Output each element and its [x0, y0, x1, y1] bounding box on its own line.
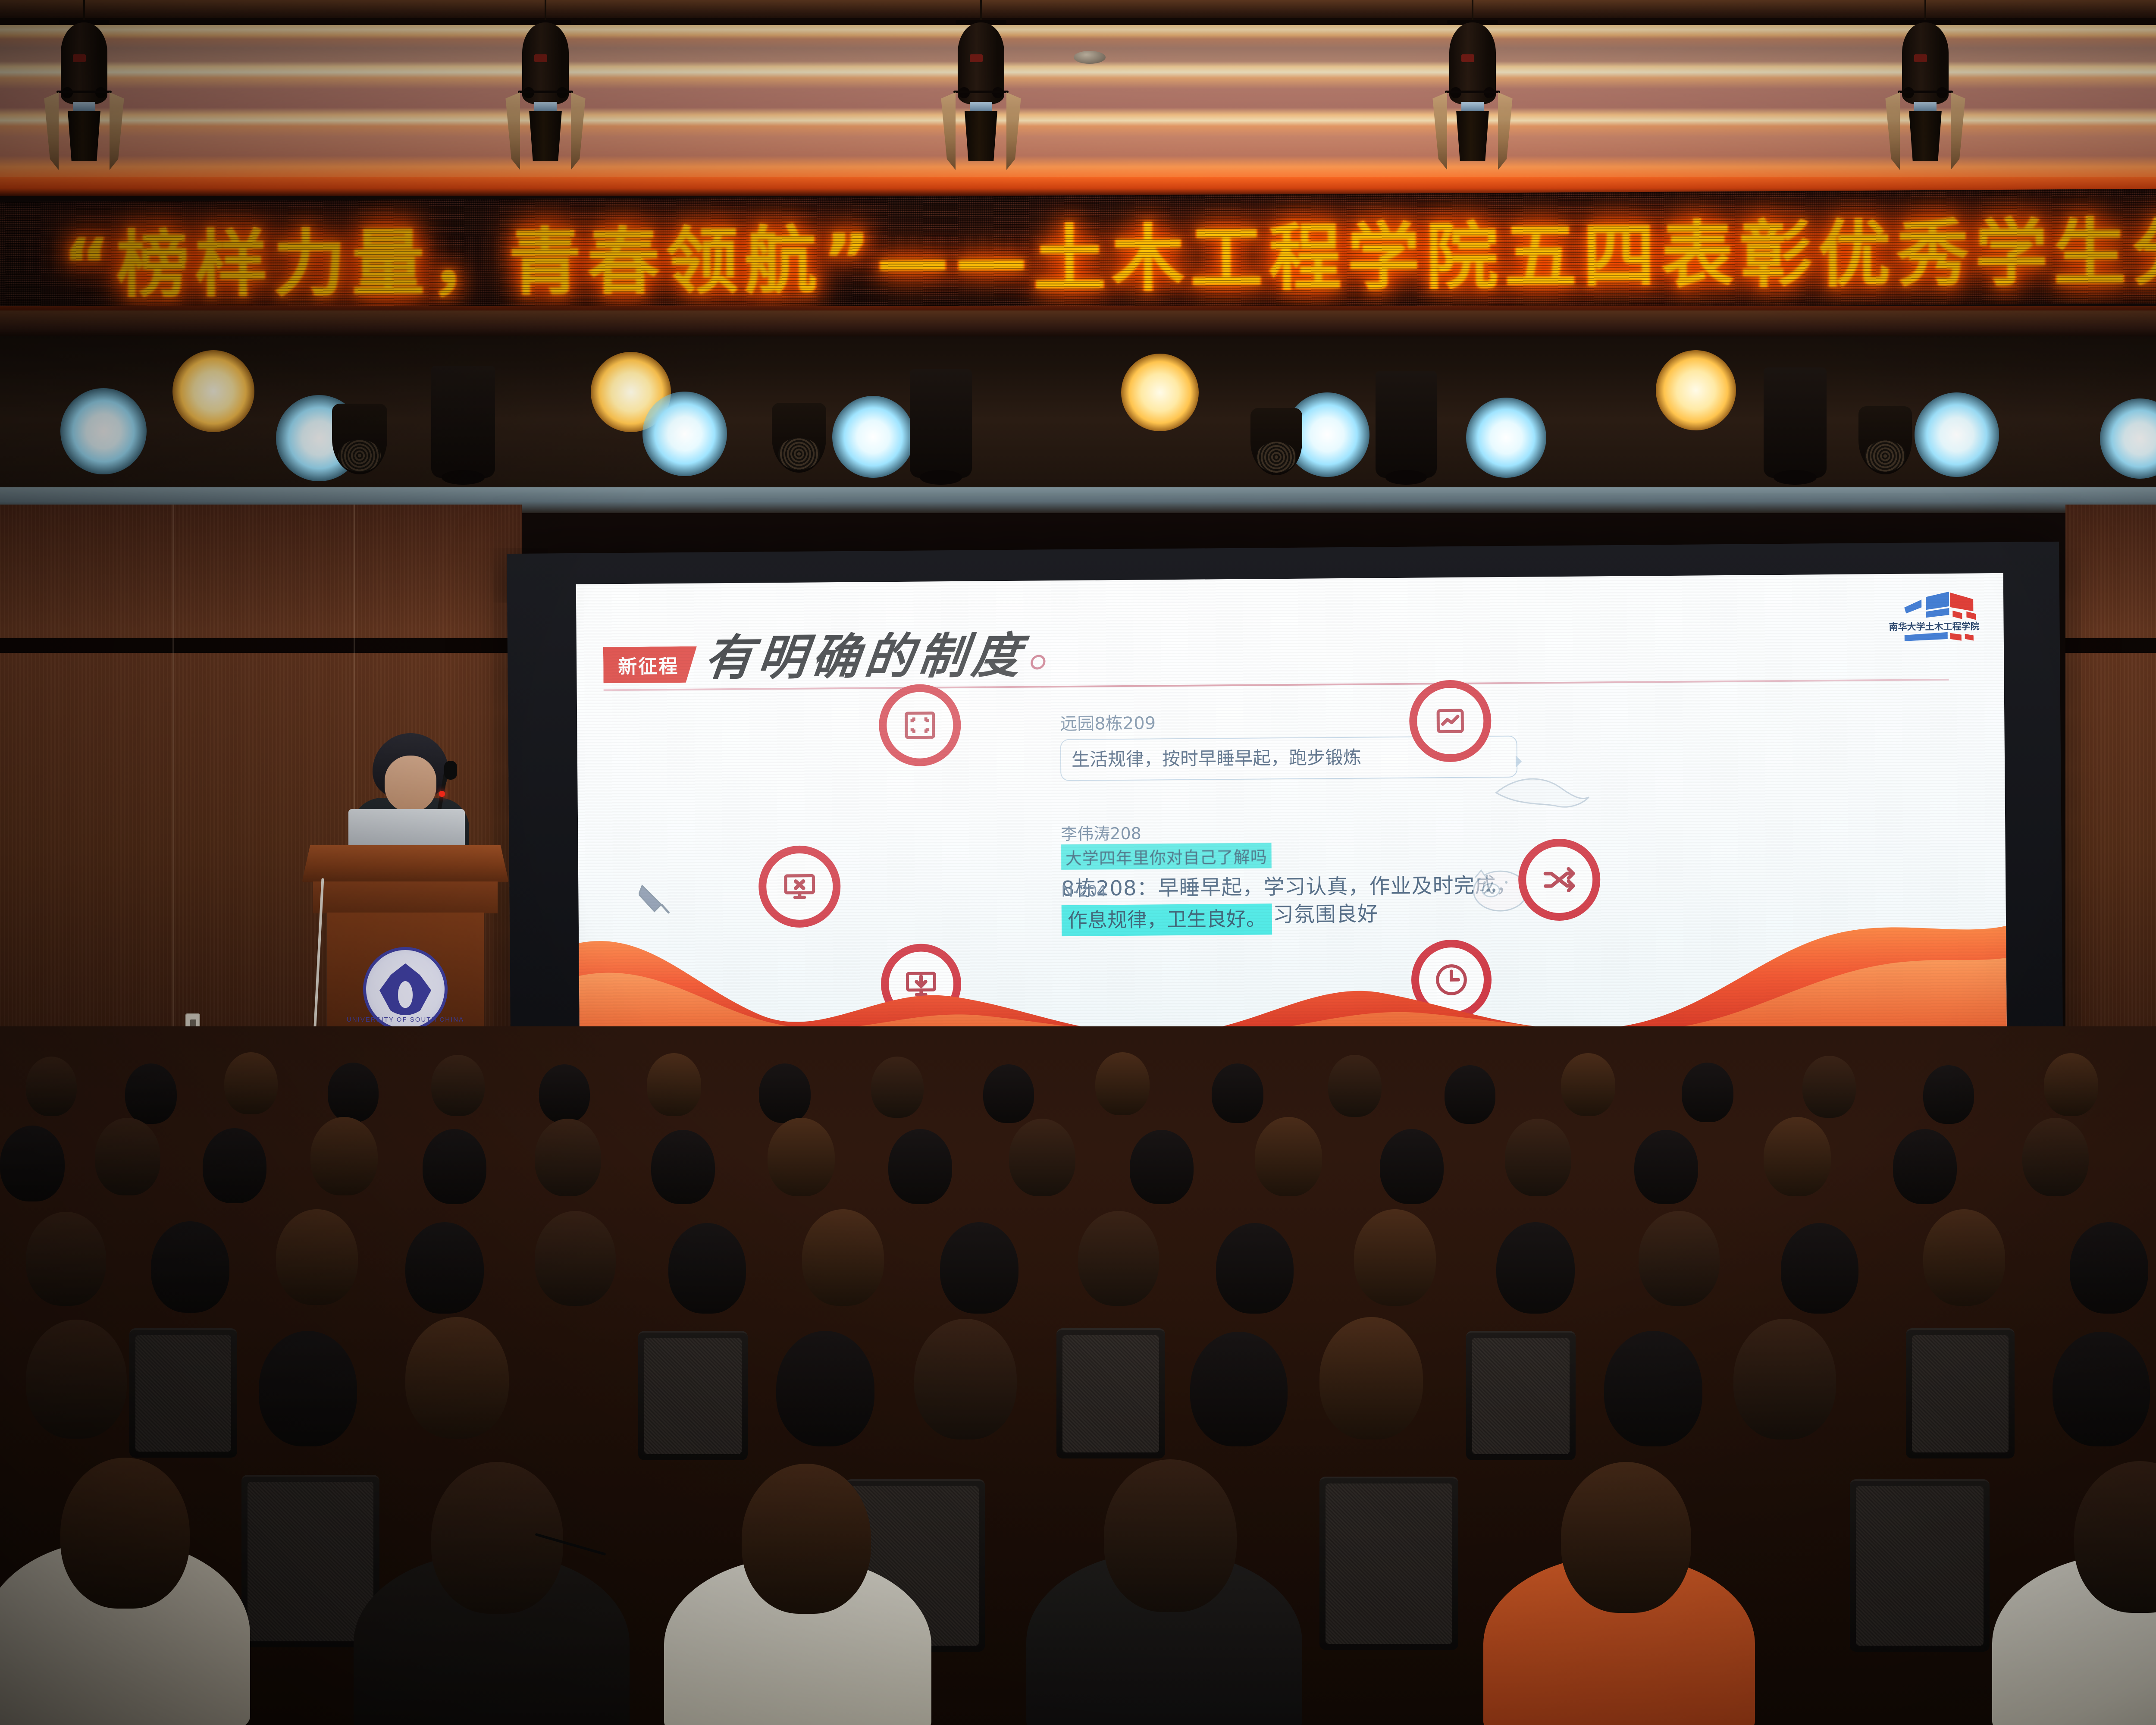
audience-head — [1009, 1119, 1075, 1196]
audience-head — [405, 1317, 509, 1439]
audience-head — [2044, 1053, 2098, 1116]
laptop — [348, 809, 465, 849]
audience-head — [1764, 1117, 1831, 1196]
chart-line-icon-ring — [1409, 680, 1492, 762]
audience-head — [26, 1320, 127, 1439]
audience-head — [539, 1064, 590, 1123]
fullscreen-icon — [902, 707, 938, 743]
audience-head — [1561, 1462, 1691, 1613]
auditorium-seat — [1850, 1479, 1990, 1652]
monitor-x-icon — [781, 868, 818, 906]
cool-wash-lamp — [1466, 398, 1546, 478]
audience-head — [1505, 1119, 1571, 1196]
smoke-detector-icon — [1074, 51, 1106, 64]
audience-head — [1255, 1117, 1322, 1196]
audience-head — [1104, 1459, 1237, 1612]
audience-head — [1893, 1129, 1957, 1204]
par-can-light — [332, 404, 387, 474]
ribbon-wave-graphic — [579, 923, 2007, 1042]
college-logo-text: 南华大学土木工程学院 — [1889, 621, 1980, 632]
college-logo: 南华大学土木工程学院 — [1884, 588, 1984, 649]
title-circle-icon — [1030, 655, 1046, 669]
audience-head — [259, 1331, 357, 1446]
warm-wash-lamp — [172, 350, 254, 432]
auditorium-seat — [1466, 1331, 1576, 1460]
projection-screen-frame: 新征程 有明确的制度 远园8栋209 生活规律，按时早睡早起，跑步锻炼 李伟涛2… — [507, 542, 2063, 1088]
pen-doodle — [639, 881, 708, 933]
par-can-light — [772, 403, 826, 473]
auditorium-photo: “榜样力量，青春领航”——土木工程学院五四表彰优秀学生分享交流会 — [0, 0, 2156, 1725]
chat-sender-name-3: N-204 — [1061, 879, 1527, 901]
presentation-slide: 新征程 有明确的制度 远园8栋209 生活规律，按时早睡早起，跑步锻炼 李伟涛2… — [576, 573, 2007, 1042]
audience-head — [651, 1130, 715, 1204]
audience-head — [1212, 1063, 1263, 1123]
fullscreen-icon-ring — [879, 684, 961, 766]
led-banner: “榜样力量，青春领航”——土木工程学院五四表彰优秀学生分享交流会 — [0, 177, 2156, 315]
cool-wash-lamp — [832, 396, 914, 478]
shuffle-icon-ring — [1518, 838, 1600, 921]
cool-wash-lamp — [2100, 398, 2156, 479]
lighting-truss-row-2 — [0, 310, 2156, 509]
audience-head — [1130, 1130, 1194, 1204]
audience-head — [224, 1052, 278, 1114]
par-can-light — [1250, 408, 1302, 475]
audience-head — [1802, 1056, 1856, 1118]
audience-head — [125, 1063, 177, 1124]
shuffle-icon — [1541, 861, 1578, 899]
wall-panel-right — [2065, 505, 2156, 1078]
audience-head — [423, 1129, 486, 1204]
audience-head — [2053, 1332, 2150, 1446]
audience-head — [1095, 1052, 1150, 1115]
audience-head — [1319, 1317, 1423, 1440]
audience-head — [802, 1209, 884, 1306]
ceiling-slat — [0, 0, 2156, 20]
monitor-x-icon-ring — [758, 845, 841, 928]
audience-head — [888, 1129, 952, 1204]
audience-head — [203, 1128, 266, 1203]
audience-head — [535, 1119, 601, 1196]
audience-head — [1190, 1332, 1288, 1446]
audience-head — [983, 1064, 1034, 1123]
audience-head — [871, 1057, 924, 1118]
banner-text: “榜样力量，青春领航”——土木工程学院五四表彰优秀学生分享交流会 — [63, 191, 2156, 311]
truss-bar — [0, 310, 2156, 336]
audience-head — [60, 1458, 190, 1609]
microphone-led — [439, 791, 445, 797]
audience-head — [1380, 1129, 1444, 1204]
audience-head — [1078, 1211, 1159, 1306]
audience-area — [0, 1026, 2156, 1725]
auditorium-seat — [638, 1331, 748, 1460]
podium-top — [302, 845, 509, 882]
speaker-face — [385, 756, 436, 812]
slide-title: 有明确的制度 — [702, 631, 1049, 682]
audience-head — [2070, 1222, 2148, 1314]
audience-head — [431, 1055, 485, 1116]
moving-head-light — [431, 366, 495, 478]
cool-wash-lamp — [60, 388, 147, 474]
audience-head — [0, 1126, 65, 1201]
audience-head — [310, 1117, 378, 1195]
audience-head — [151, 1221, 229, 1313]
audience-head — [405, 1222, 484, 1314]
chat-sender-name-2: 李伟涛208 — [1061, 817, 1518, 844]
seal-emblem-icon — [379, 963, 431, 1015]
seal-english-text: UNIVERSITY OF SOUTH CHINA — [347, 1016, 464, 1023]
audience-head — [1354, 1209, 1436, 1306]
ceiling-truss — [0, 18, 2156, 25]
audience-head — [1923, 1065, 1974, 1124]
audience-head — [668, 1223, 746, 1314]
audience-head — [1639, 1211, 1720, 1306]
ceiling — [0, 0, 2156, 185]
slide-heading: 新征程 有明确的制度 — [603, 632, 1047, 683]
chat-highlight: 大学四年里你对自己了解吗 — [1061, 843, 1272, 870]
audience-head — [1733, 1319, 1836, 1440]
auditorium-seat — [1056, 1328, 1165, 1458]
moving-head-light — [910, 369, 972, 478]
audience-head — [276, 1209, 358, 1305]
audience-head — [1496, 1222, 1575, 1314]
auditorium-seat — [129, 1328, 237, 1458]
audience-head — [1634, 1130, 1698, 1204]
auditorium-seat — [1906, 1328, 2015, 1458]
audience-head — [26, 1057, 77, 1116]
moving-head-light — [1376, 371, 1437, 478]
audience-head — [1328, 1055, 1382, 1117]
slide-badge: 新征程 — [603, 646, 697, 684]
audience-head — [914, 1319, 1017, 1440]
warm-wash-lamp — [1656, 350, 1736, 430]
audience-head — [647, 1053, 701, 1116]
auditorium-seat — [1319, 1477, 1458, 1650]
audience-head — [2022, 1118, 2089, 1196]
slide-badge-label: 新征程 — [618, 651, 679, 679]
audience-head — [1445, 1065, 1495, 1124]
warm-wash-lamp — [1121, 354, 1199, 431]
audience-head — [95, 1118, 160, 1195]
audience-head — [776, 1331, 874, 1446]
microphone-icon — [444, 761, 457, 780]
audience-head — [1216, 1223, 1294, 1314]
podium-skirt — [313, 881, 498, 913]
audience-head — [328, 1063, 379, 1122]
audience-head — [1682, 1063, 1733, 1122]
audience-head — [26, 1212, 106, 1306]
audience-head — [1781, 1223, 1858, 1314]
audience-head — [1923, 1209, 2005, 1306]
cool-wash-lamp — [642, 392, 727, 476]
par-can-light — [1858, 406, 1912, 474]
audience-head — [768, 1118, 835, 1196]
chart-line-icon — [1432, 703, 1469, 740]
audience-head — [1604, 1331, 1702, 1446]
university-seal: UNIVERSITY OF SOUTH CHINA — [363, 947, 448, 1032]
audience-head — [940, 1222, 1018, 1314]
audience-head — [742, 1464, 871, 1614]
audience-head — [759, 1063, 811, 1123]
audience-head — [1561, 1053, 1615, 1116]
cool-wash-lamp — [1915, 392, 1999, 477]
moving-head-light — [1764, 367, 1827, 478]
audience-head — [535, 1211, 616, 1306]
hand-doodle — [1492, 757, 1591, 827]
